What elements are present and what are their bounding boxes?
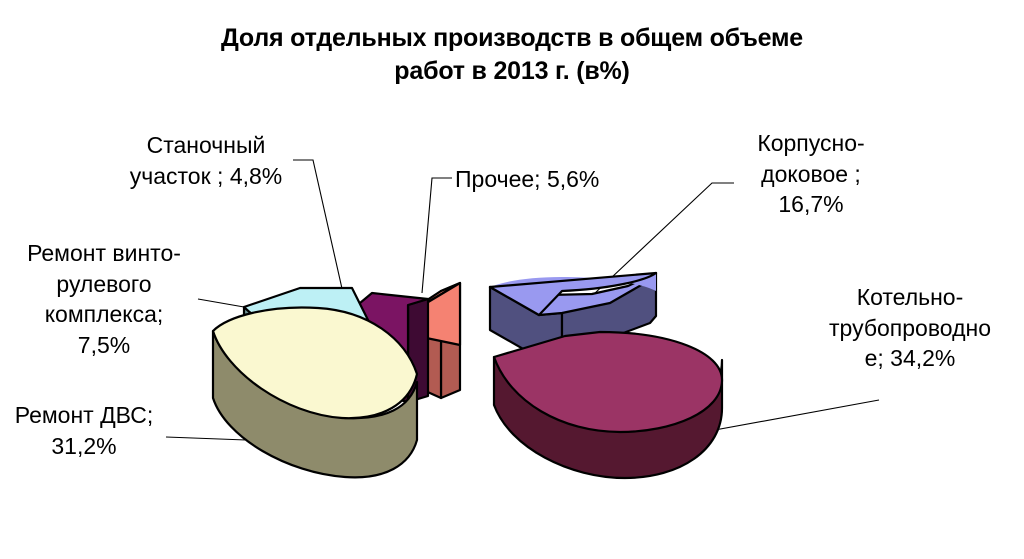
pie-slice-kotelno-truboprovodnoe[interactable] [494, 332, 722, 478]
pie-slice-remont-dvs[interactable] [213, 308, 417, 478]
pie-label-vintorulevoi-kompleks: Ремонт винто- рулевого комплекса; 7,5% [4, 238, 204, 360]
leader-line-dvs [166, 437, 246, 440]
pie-label-prochee: Прочее; 5,6% [455, 164, 655, 195]
leader-line-vintorulevoe [198, 299, 244, 307]
pie-label-korpusno-dokovoe: Корпусно- доковое ; 16,7% [718, 128, 904, 220]
chart-page: Доля отдельных производств в общем объем… [0, 0, 1024, 559]
leader-line-prochee [422, 178, 452, 293]
pie-label-remont-dvs: Ремонт ДВС; 31,2% [0, 400, 168, 461]
pie-label-stanochny-uchastok: Станочный участок ; 4,8% [100, 130, 312, 191]
pie-label-kotelno-truboprovodnoe: Котельно- трубопроводно е; 34,2% [796, 282, 1024, 374]
